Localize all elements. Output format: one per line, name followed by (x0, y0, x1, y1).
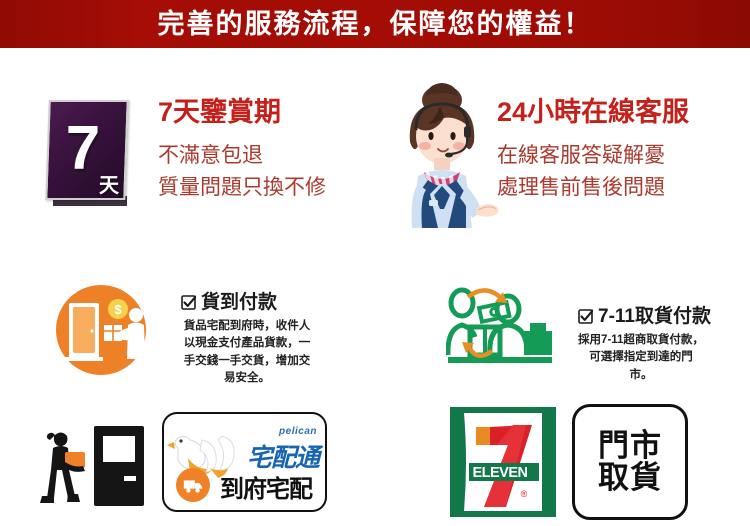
service-line-1: 在線客服答疑解憂 (497, 140, 689, 173)
seven-day-line-2: 質量問題只換不修 (158, 172, 326, 205)
seven-eleven-logo: ELEVEN ® (450, 407, 556, 517)
pickup-body: 採用7-11超商取貨付款，可選擇指定到達的門市。 (578, 332, 704, 384)
seven-eleven-wordmark: ELEVEN (472, 465, 527, 481)
store-pickup-line-2: 取貨 (598, 462, 662, 494)
seven-day-title: 7天鑒賞期 (158, 98, 326, 128)
checkbox-checked-icon (578, 309, 593, 324)
seven-day-line-1: 不滿意包退 (158, 140, 326, 173)
customer-service-agent-icon (384, 80, 502, 228)
cod-title-row: 貨到付款 (181, 293, 313, 312)
service-text-block: 24小時在線客服 在線客服答疑解憂 處理售前售後問題 (497, 98, 689, 205)
pelican-home-delivery-logo: pelican 宅配通 到府宅配 (162, 412, 327, 512)
promo-page: 完善的服務流程，保障您的權益！ 7 天 7天鑒賞期 不滿意包退 質量問題只換不修 (0, 0, 750, 526)
svg-text:$: $ (114, 302, 122, 317)
cod-body: 貨品宅配到府時，收件人以現金支付產品貨款，一手交錢一手交貨，增加交易安全。 (181, 318, 313, 387)
service-title: 24小時在線客服 (497, 98, 689, 128)
seven-day-text-block: 7天鑒賞期 不滿意包退 質量問題只換不修 (158, 98, 326, 205)
pickup-text-block: 7-11取貨付款 採用7-11超商取貨付款，可選擇指定到達的門市。 (578, 307, 704, 384)
pickup-title-row: 7-11取貨付款 (578, 307, 704, 326)
home-delivery-caption: 到府宅配 (220, 469, 312, 504)
truck-badge-icon (176, 468, 210, 502)
service-line-2: 處理售前售後問題 (497, 172, 689, 205)
store-pickup-line-1: 門市 (598, 430, 662, 462)
badge-unit: 天 (99, 169, 119, 198)
counter-exchange-icon (446, 281, 568, 379)
walking-courier-door-icon (32, 418, 150, 510)
header-banner: 完善的服務流程，保障您的權益！ (0, 0, 750, 48)
pickup-title: 7-11取貨付款 (598, 307, 711, 326)
checkbox-checked-icon (181, 295, 196, 310)
trademark-symbol: ® (521, 489, 528, 499)
pelican-brand-en: pelican (279, 426, 317, 437)
seven-day-badge: 7 天 (45, 100, 127, 208)
cod-text-block: 貨到付款 貨品宅配到府時，收件人以現金支付產品貨款，一手交錢一手交貨，增加交易安… (181, 293, 313, 387)
store-pickup-caption-box: 門市 取貨 (572, 404, 688, 520)
cod-title: 貨到付款 (201, 293, 277, 312)
door-delivery-cash-icon: $ (52, 281, 150, 379)
banner-title: 完善的服務流程，保障您的權益！ (158, 11, 593, 38)
